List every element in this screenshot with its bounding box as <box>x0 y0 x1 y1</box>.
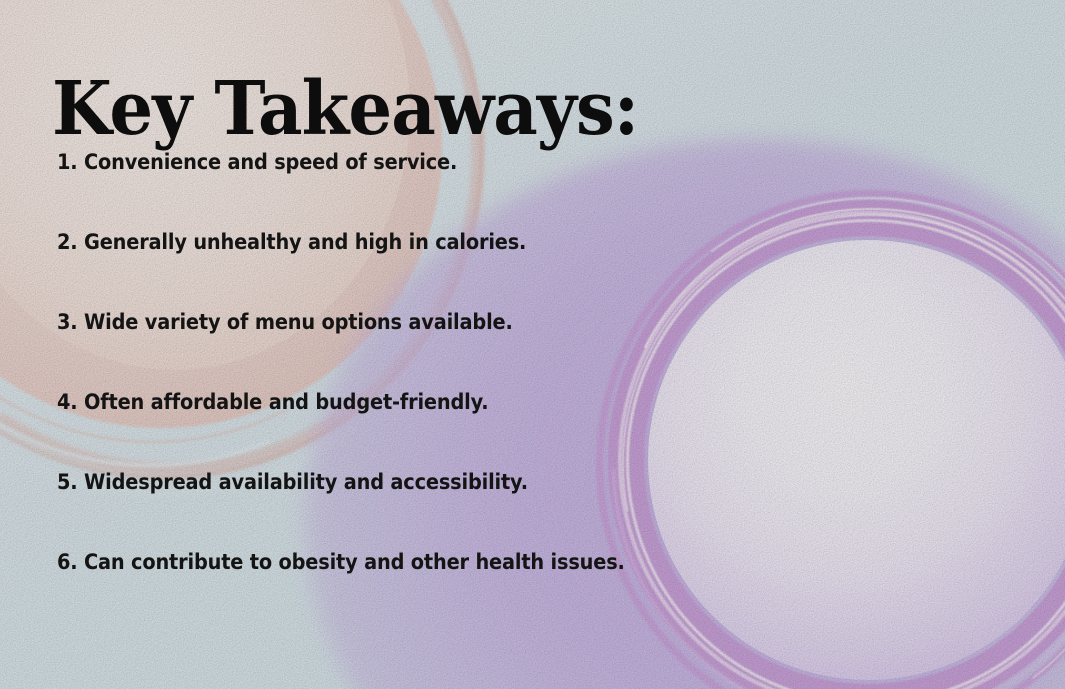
list-item: 4. Often affordable and budget-friendly. <box>57 390 633 470</box>
list-item: 1. Convenience and speed of service. <box>57 150 633 230</box>
takeaways-list: 1. Convenience and speed of service. 2. … <box>57 150 697 630</box>
list-item: 6. Can contribute to obesity and other h… <box>57 550 633 630</box>
slide-canvas: Key Takeaways: 1. Convenience and speed … <box>0 0 1065 689</box>
list-item: 3. Wide variety of menu options availabl… <box>57 310 633 390</box>
page-title: Key Takeaways: <box>52 66 638 152</box>
list-item: 2. Generally unhealthy and high in calor… <box>57 230 633 310</box>
list-item: 5. Widespread availability and accessibi… <box>57 470 633 550</box>
slide-content: Key Takeaways: 1. Convenience and speed … <box>0 0 1065 689</box>
